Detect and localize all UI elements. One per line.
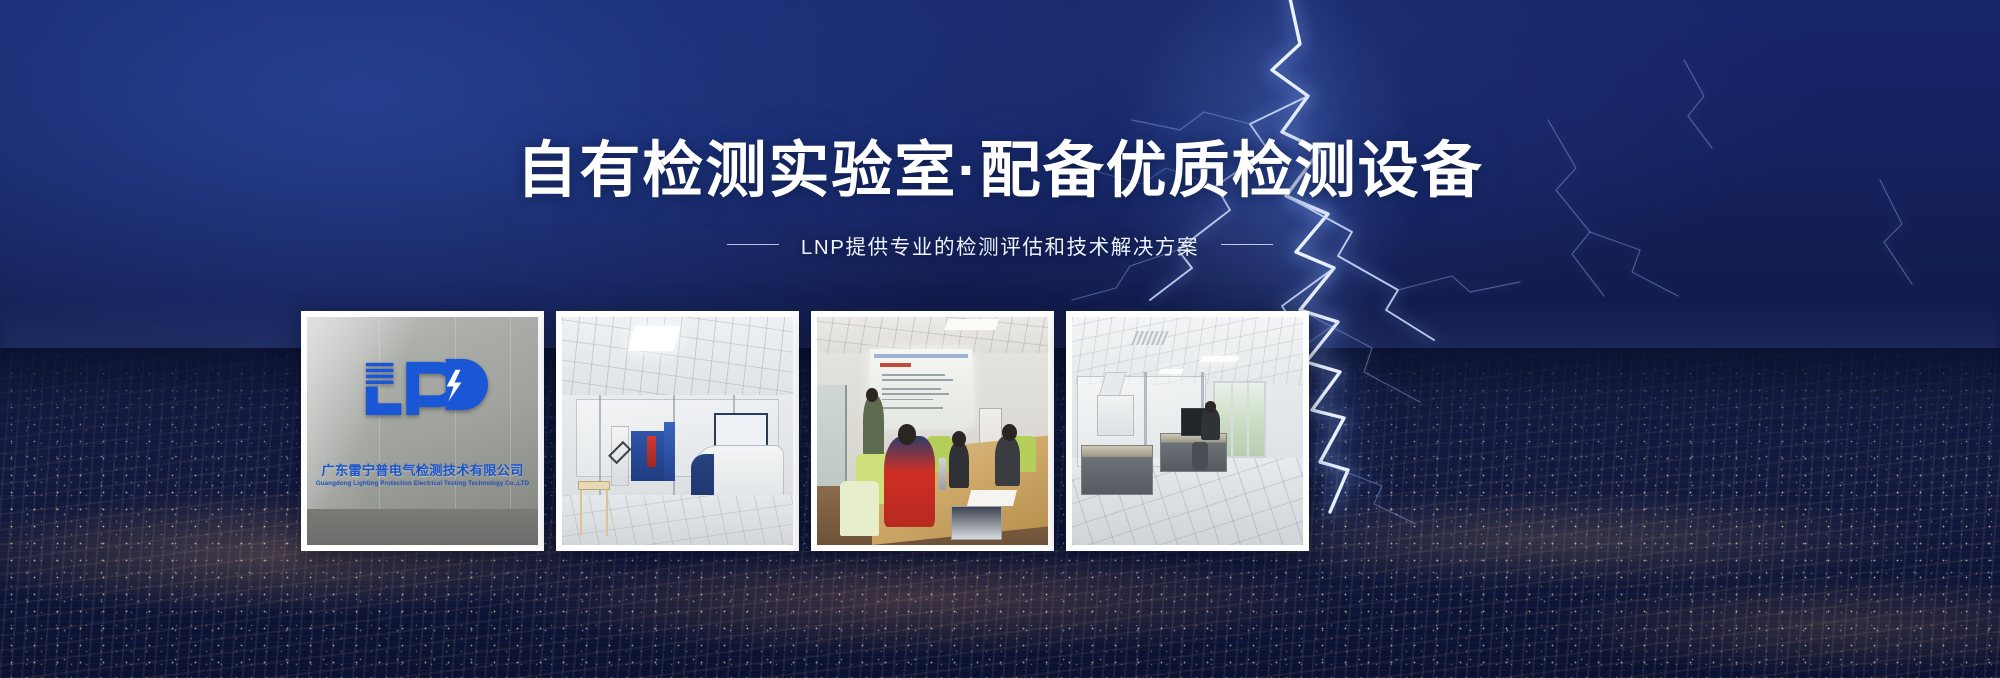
slide-line <box>882 407 943 409</box>
photo-image-office <box>1072 317 1303 545</box>
window-bar <box>1231 383 1233 457</box>
slide-line <box>882 374 945 376</box>
banner-subtitle-row: LNP提供专业的检测评估和技术解决方案 <box>0 230 2000 260</box>
office-chair <box>840 481 879 536</box>
ceiling-vent <box>1132 331 1170 345</box>
photo-gallery: 广东雷宁普电气检测技术有限公司 Guangdong Lighting Prote… <box>301 311 1309 551</box>
ceiling-light <box>1200 356 1240 362</box>
person-foreground <box>884 436 935 527</box>
window-bar <box>1247 383 1249 457</box>
person-attendee <box>949 442 970 488</box>
ceiling-light <box>1159 369 1184 374</box>
water-bottle <box>939 458 946 490</box>
stool-leg <box>580 490 582 536</box>
work-stool <box>578 481 610 490</box>
photo-image-logo-wall: 广东雷宁普电气检测技术有限公司 Guangdong Lighting Prote… <box>307 317 538 545</box>
person-head <box>952 431 966 447</box>
office-desk <box>1081 445 1153 495</box>
documents <box>967 490 1017 506</box>
gallery-photo-training-meeting-room[interactable] <box>811 311 1054 551</box>
lab-floor <box>562 495 793 545</box>
person-head <box>1002 424 1017 441</box>
hero-banner: 自有检测实验室·配备优质检测设备 LNP提供专业的检测评估和技术解决方案 <box>0 0 2000 678</box>
person-working <box>1201 408 1219 440</box>
red-insulator <box>647 436 655 468</box>
ceiling-light <box>944 319 999 330</box>
slide-header-bar <box>874 354 968 358</box>
ceiling-light <box>628 326 681 351</box>
company-name-en: Guangdong Lighting Protection Electrical… <box>316 480 529 487</box>
slide-line <box>882 399 933 401</box>
lnp-logo-icon <box>358 353 488 417</box>
photo-image-meeting-room <box>817 317 1048 545</box>
divider-line-right <box>1221 244 1273 245</box>
divider-line-left <box>727 244 779 245</box>
office-chair <box>1192 442 1208 469</box>
person-head <box>1205 401 1217 412</box>
gallery-photo-lnp-logo-wall[interactable]: 广东雷宁普电气检测技术有限公司 Guangdong Lighting Prote… <box>301 311 544 551</box>
banner-text-block: 自有检测实验室·配备优质检测设备 LNP提供专业的检测评估和技术解决方案 <box>0 138 2000 260</box>
room-door <box>817 385 847 494</box>
lab-monitor <box>714 413 767 449</box>
laptop <box>951 506 1002 540</box>
person-head <box>898 424 916 445</box>
banner-subtitle: LNP提供专业的检测评估和技术解决方案 <box>801 230 1199 260</box>
company-name-cn: 广东雷宁普电气检测技术有限公司 <box>321 460 523 479</box>
slide-line <box>882 393 949 395</box>
person-presenter <box>863 395 884 459</box>
equipment-hood <box>1097 395 1134 436</box>
banner-headline: 自有检测实验室·配备优质检测设备 <box>0 138 2000 204</box>
stool-leg <box>606 490 608 536</box>
projection-screen <box>870 349 972 427</box>
photo-image-laboratory <box>562 317 793 545</box>
wall-base <box>307 509 538 545</box>
person-attendee <box>995 436 1020 486</box>
slide-line <box>882 379 953 381</box>
slide-line <box>882 388 941 390</box>
gallery-photo-office-area[interactable] <box>1066 311 1309 551</box>
blue-column <box>664 422 676 481</box>
gallery-photo-testing-laboratory[interactable] <box>556 311 799 551</box>
slide-title <box>880 363 910 367</box>
